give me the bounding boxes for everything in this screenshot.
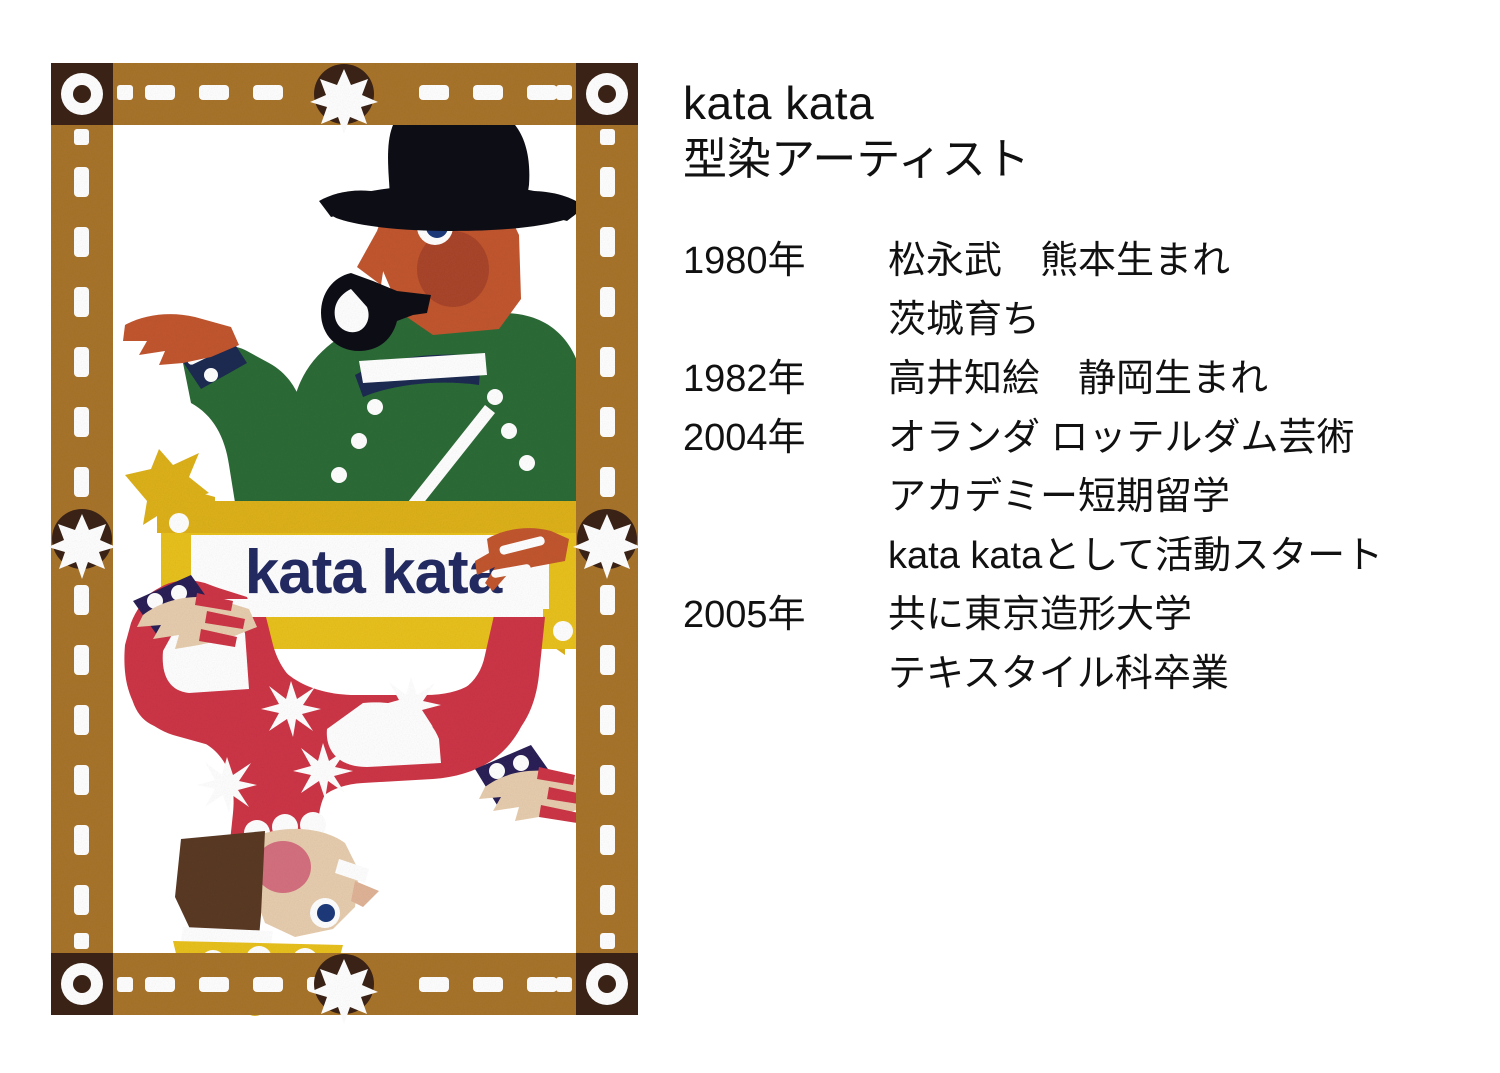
banner-dot-right xyxy=(553,621,573,641)
left-cuff-button xyxy=(204,368,218,382)
banner-dot-left xyxy=(169,513,189,533)
biography-row: テキスタイル科卒業 xyxy=(683,646,1473,703)
banner-label: kata kata xyxy=(245,538,503,607)
biography-year: 1982年 xyxy=(683,351,888,408)
banner-top-bar xyxy=(157,501,581,533)
biography-year: 2004年 xyxy=(683,410,888,467)
biography-description: 茨城育ち xyxy=(888,292,1473,349)
dress-waist-stripe xyxy=(213,599,543,617)
biography-year: 2005年 xyxy=(683,587,888,644)
artist-titles: kata kata 型染アーティスト xyxy=(683,78,1473,185)
illustration-canvas: kata kata xyxy=(33,45,656,1030)
biography-year: 1980年 xyxy=(683,233,888,290)
biography-list: 1980年松永武 熊本生まれ茨城育ち1982年高井知絵 静岡生まれ2004年オラ… xyxy=(683,233,1473,703)
kata-kata-illustration: kata kata xyxy=(33,45,656,1030)
biography-row: 1980年松永武 熊本生まれ xyxy=(683,233,1473,290)
biography-description: アカデミー短期留学 xyxy=(888,469,1473,526)
biography-row: 2004年オランダ ロッテルダム芸術 xyxy=(683,410,1473,467)
biography-description: kata kataとして活動スタート xyxy=(888,528,1473,585)
biography-description: 松永武 熊本生まれ xyxy=(888,233,1473,290)
hair xyxy=(175,831,265,937)
artist-profile-page: kata kata xyxy=(0,0,1500,1073)
inverted-eye-iris xyxy=(317,904,335,922)
artist-role: 型染アーティスト xyxy=(683,134,1473,186)
biography-description: オランダ ロッテルダム芸術 xyxy=(888,410,1473,467)
biography-row: アカデミー短期留学 xyxy=(683,469,1473,526)
artist-name: kata kata xyxy=(683,78,1473,130)
artist-info-panel: kata kata 型染アーティスト 1980年松永武 熊本生まれ茨城育ち198… xyxy=(683,78,1473,705)
biography-row: 1982年高井知絵 静岡生まれ xyxy=(683,351,1473,408)
biography-description: 高井知絵 静岡生まれ xyxy=(888,351,1473,408)
biography-row: 茨城育ち xyxy=(683,292,1473,349)
biography-description: 共に東京造形大学 xyxy=(888,587,1473,644)
biography-row: kata kataとして活動スタート xyxy=(683,528,1473,585)
biography-row: 2005年共に東京造形大学 xyxy=(683,587,1473,644)
biography-description: テキスタイル科卒業 xyxy=(888,646,1473,703)
